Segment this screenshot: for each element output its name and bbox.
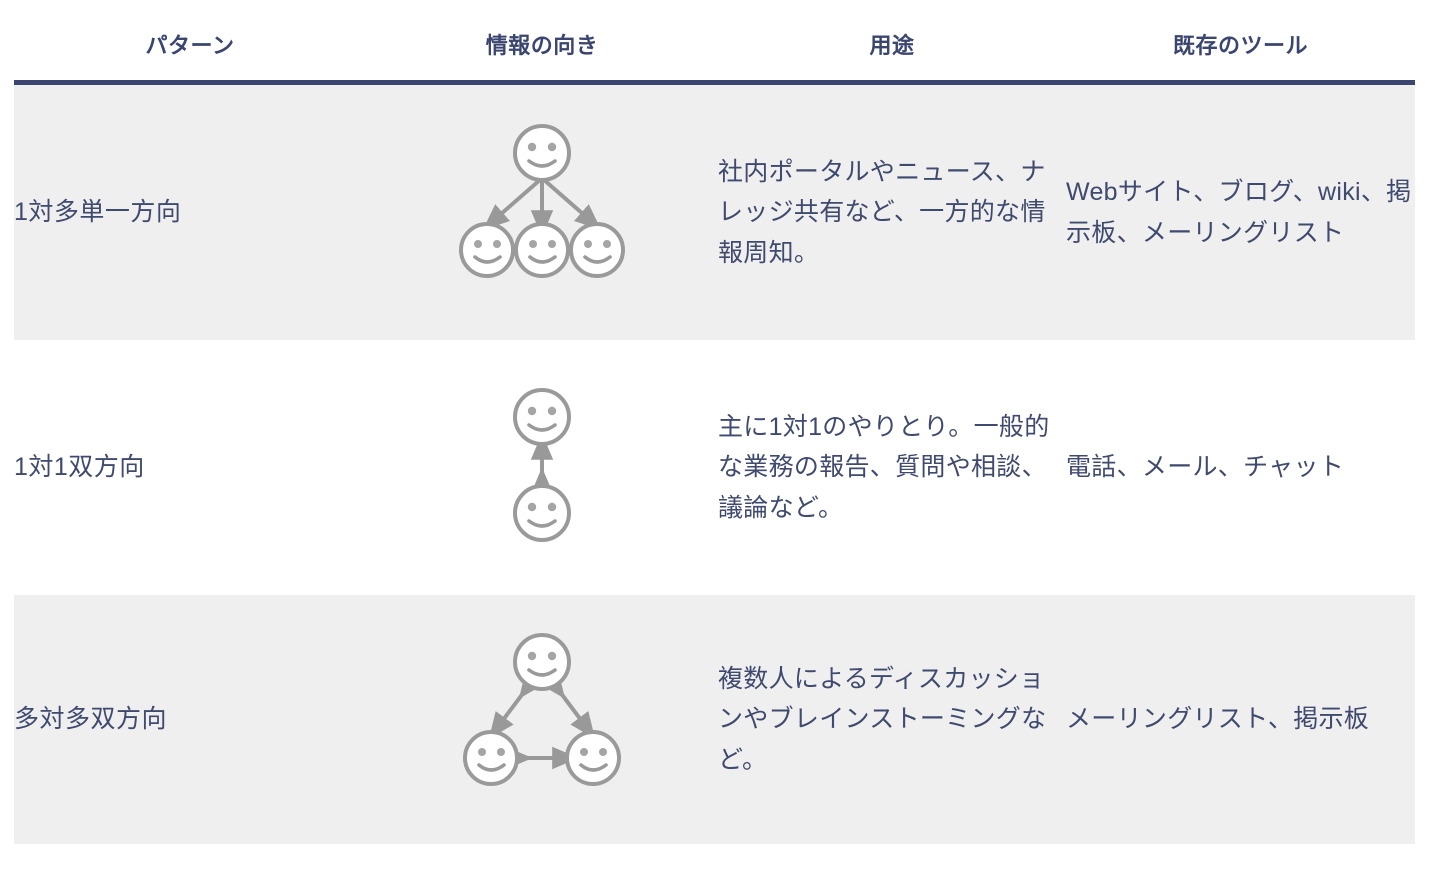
one-to-many-unidirectional-icon [457,123,627,303]
cell-pattern: 1対多単一方向 [14,83,366,341]
column-header-direction: 情報の向き [366,14,718,83]
cell-pattern: 多対多双方向 [14,595,366,844]
cell-usage: 複数人によるディスカッションやブレインストーミングなど。 [718,595,1066,844]
many-to-many-bidirectional-icon [457,630,627,810]
page-root: パターン 情報の向き 用途 既存のツール 1対多単一方向 [0,0,1438,870]
cell-tools: メーリングリスト、掲示板 [1066,595,1415,844]
table-row: 1対多単一方向 [14,83,1415,341]
table-header-row: パターン 情報の向き 用途 既存のツール [14,14,1415,83]
column-header-pattern: パターン [14,14,366,83]
cell-pattern: 1対1双方向 [14,340,366,595]
cell-tools: 電話、メール、チャット [1066,340,1415,595]
cell-usage: 主に1対1のやりとり。一般的な業務の報告、質問や相談、議論など。 [718,340,1066,595]
cell-usage: 社内ポータルやニュース、ナレッジ共有など、一方的な情報周知。 [718,83,1066,341]
column-header-usage: 用途 [718,14,1066,83]
column-header-tools: 既存のツール [1066,14,1415,83]
table-header: パターン 情報の向き 用途 既存のツール [14,14,1415,83]
communication-patterns-table: パターン 情報の向き 用途 既存のツール 1対多単一方向 [14,14,1415,844]
cell-diagram [366,595,718,844]
cell-diagram [366,83,718,341]
cell-tools: Webサイト、ブログ、wiki、掲示板、メーリングリスト [1066,83,1415,341]
cell-diagram [366,340,718,595]
table-row: 1対1双方向 [14,340,1415,595]
table-body: 1対多単一方向 [14,83,1415,845]
table-row: 多対多双方向 [14,595,1415,844]
one-to-one-bidirectional-icon [457,385,627,550]
